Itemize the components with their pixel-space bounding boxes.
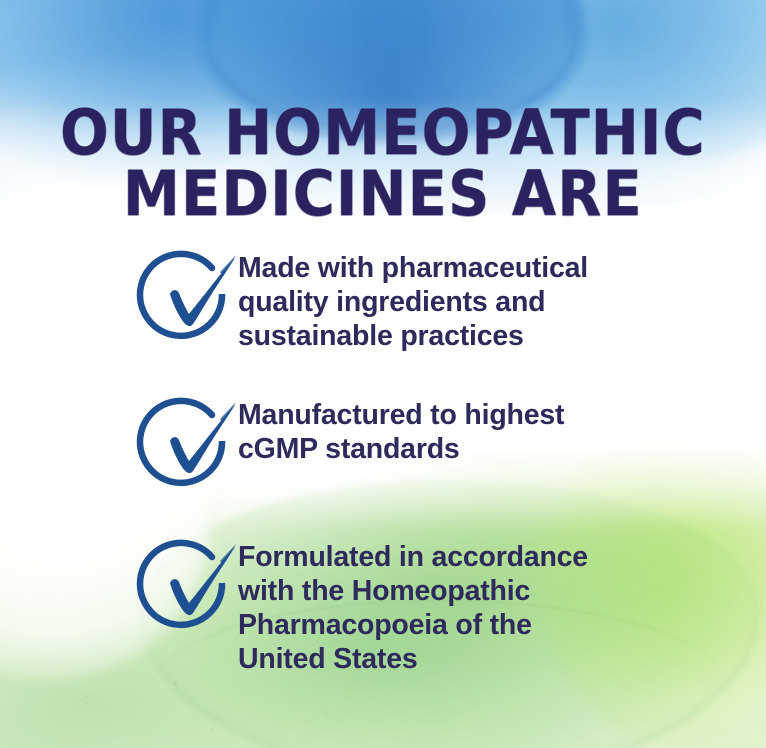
page-title: Our Homeopathic Medicines Are [31,104,736,222]
poster-content: Our Homeopathic Medicines Are Made with … [0,0,766,748]
check-circle-icon [136,538,238,634]
list-item-text: Formulated in accordance with the Homeop… [238,532,588,677]
list-item-line-1: Formulated in accordance [238,540,588,574]
benefits-list: Made with pharmaceutical quality ingredi… [0,243,766,676]
poster-canvas: Our Homeopathic Medicines Are Made with … [0,0,766,748]
list-item-line-1: Manufactured to highest [238,398,564,432]
headline-line-2: Medicines Are [31,165,736,222]
list-item-line-2: with the Homeopathic [238,574,588,608]
list-item-text: Made with pharmaceutical quality ingredi… [238,243,588,354]
list-item-line-1: Made with pharmaceutical [238,251,588,285]
list-item: Manufactured to highest cGMP standards [0,390,766,492]
check-circle-icon [136,249,238,345]
list-item-line-2: quality ingredients and [238,285,588,319]
list-item-line-4: United States [238,642,588,676]
list-item-line-3: sustainable practices [238,319,588,353]
check-circle-icon [136,396,238,492]
list-item-line-3: Pharmacopoeia of the [238,608,588,642]
list-item: Made with pharmaceutical quality ingredi… [0,243,766,354]
list-item-line-2: cGMP standards [238,432,564,466]
list-item: Formulated in accordance with the Homeop… [0,532,766,677]
headline-line-1: Our Homeopathic [31,104,736,161]
list-item-text: Manufactured to highest cGMP standards [238,390,564,466]
